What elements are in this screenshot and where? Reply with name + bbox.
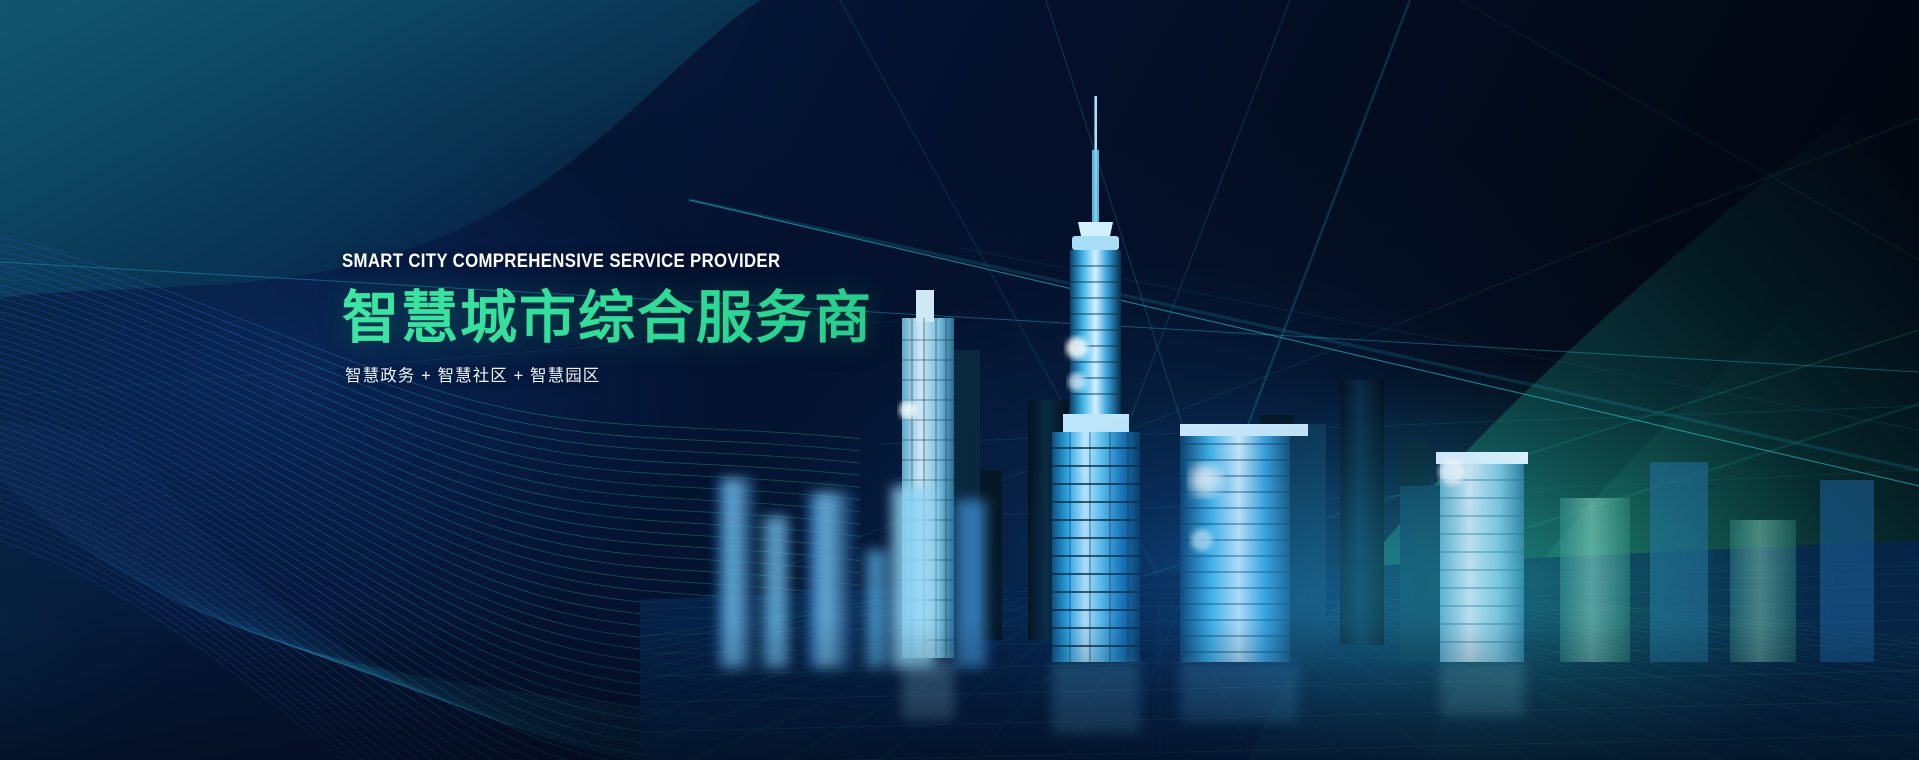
hero-banner: SMART CITY COMPREHENSIVE SERVICE PROVIDE…: [0, 0, 1919, 760]
hero-headline: 智慧城市综合服务商: [342, 287, 1102, 351]
hero-eyebrow: SMART CITY COMPREHENSIVE SERVICE PROVIDE…: [342, 252, 996, 272]
hero-text-block: SMART CITY COMPREHENSIVE SERVICE PROVIDE…: [342, 252, 1102, 385]
hero-subline: 智慧政务 + 智慧社区 + 智慧园区: [345, 368, 1102, 385]
